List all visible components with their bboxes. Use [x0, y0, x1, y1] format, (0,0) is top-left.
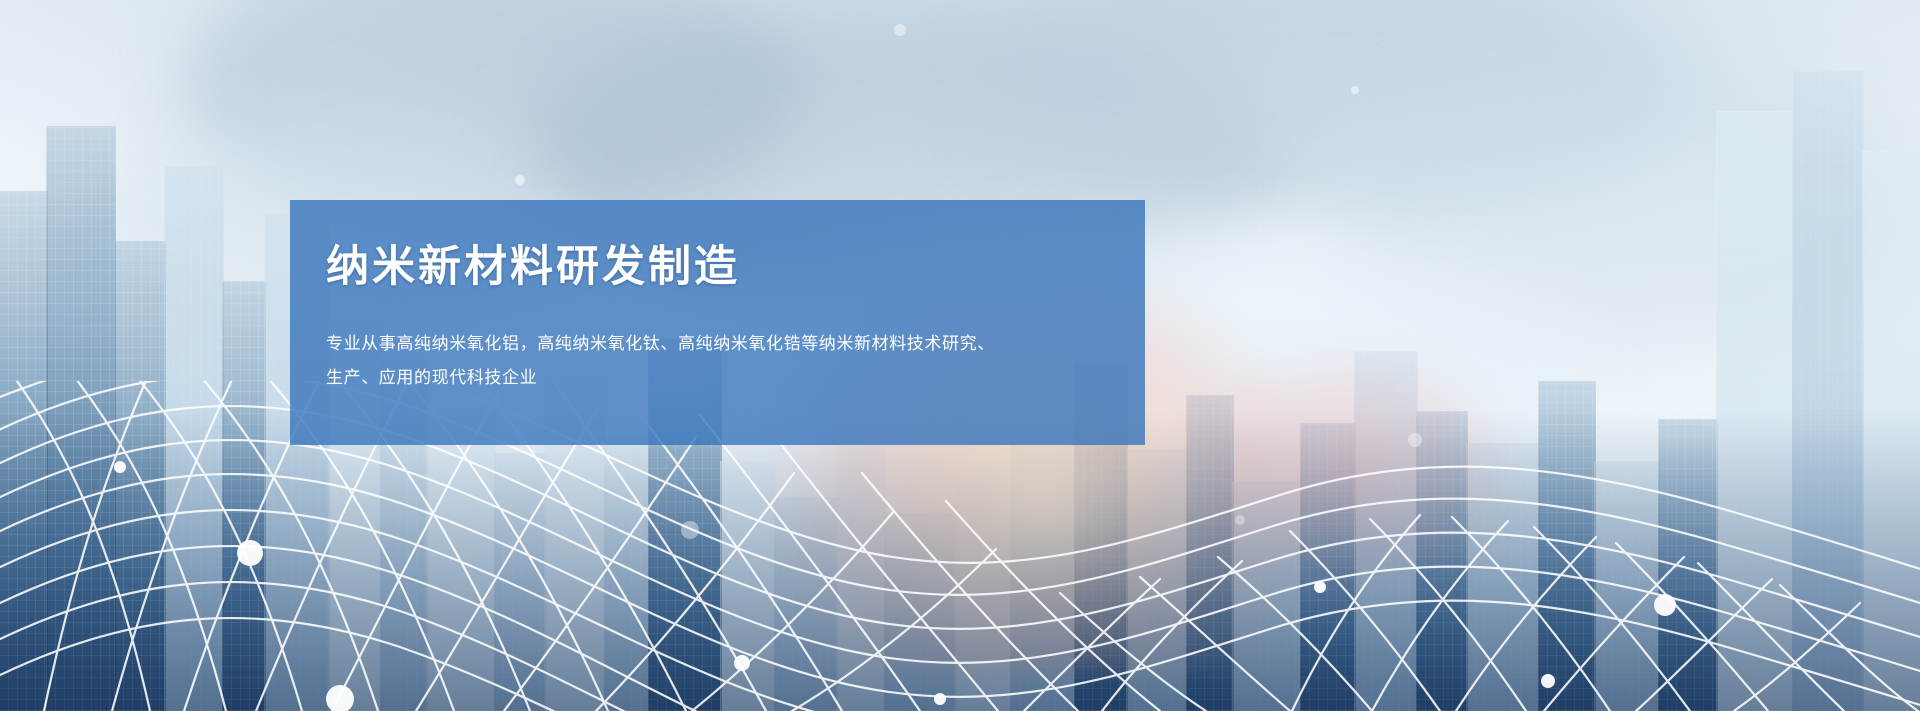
building [1232, 481, 1302, 711]
building [1716, 111, 1794, 711]
building [1538, 381, 1596, 711]
building [46, 126, 116, 711]
building [1658, 419, 1718, 711]
page-subtitle-line-1: 专业从事高纯纳米氧化铝，高纯纳米氧化钛、高纯纳米氧化锆等纳米新材料技术研究、 [326, 327, 1105, 361]
building [1126, 449, 1188, 711]
building [1594, 461, 1660, 711]
page-subtitle: 专业从事高纯纳米氧化铝，高纯纳米氧化钛、高纯纳米氧化锆等纳米新材料技术研究、 生… [326, 327, 1105, 395]
building [1862, 151, 1920, 711]
building [164, 166, 224, 711]
building [426, 411, 496, 711]
building [494, 453, 546, 711]
building [222, 281, 266, 711]
page-title: 纳米新材料研发制造 [326, 244, 1105, 291]
building [0, 191, 48, 711]
hero-banner: 纳米新材料研发制造 专业从事高纯纳米氧化铝，高纯纳米氧化钛、高纯纳米氧化锆等纳米… [0, 0, 1920, 711]
building [954, 475, 1012, 711]
building [1186, 395, 1234, 711]
building [604, 439, 650, 711]
building [1466, 443, 1540, 711]
building [836, 446, 886, 711]
building [1792, 71, 1864, 711]
page-subtitle-line-2: 生产、应用的现代科技企业 [326, 361, 1105, 395]
building [720, 461, 776, 711]
hero-text-panel: 纳米新材料研发制造 专业从事高纯纳米氧化铝，高纯纳米氧化钛、高纯纳米氧化锆等纳米… [290, 200, 1145, 445]
building [1416, 411, 1468, 711]
building [1354, 351, 1418, 711]
building [1300, 423, 1356, 711]
building [774, 497, 838, 711]
building [114, 241, 166, 711]
building [1010, 421, 1076, 711]
building [884, 513, 956, 711]
